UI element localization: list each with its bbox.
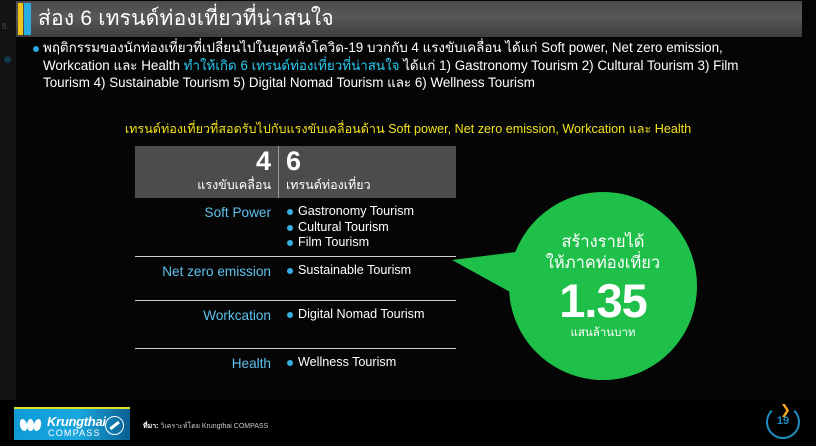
callout-line-1: สร้างรายได้ xyxy=(561,232,644,253)
page-title: ส่อง 6 เทรนด์ท่องเที่ยวที่น่าสนใจ xyxy=(38,4,334,34)
page-number: 19 xyxy=(766,415,800,427)
edge-artifact-dot xyxy=(4,56,11,63)
source-note-label: ที่มา: xyxy=(143,423,159,430)
compass-needle-icon xyxy=(105,416,124,435)
trends-label: เทรนด์ท่องเที่ยว xyxy=(286,177,456,193)
drivers-label: แรงขับเคลื่อน xyxy=(135,177,271,193)
edge-artifact-page-label: 8. xyxy=(2,22,9,31)
callout-value: 1.35 xyxy=(559,275,646,326)
footer-bar: Krungthai COMPASS ที่มา: วิเคราะห์โดย Kr… xyxy=(0,400,816,446)
edge-artifact: 8. xyxy=(0,0,16,446)
table-header-trends: 6 เทรนด์ท่องเที่ยว xyxy=(279,146,456,198)
callout-unit: แสนล้านบาท xyxy=(571,326,636,341)
table-row: Workcation Digital Nomad Tourism xyxy=(135,301,456,349)
page-number-badge: ❯ 19 xyxy=(766,405,800,439)
drivers-count: 4 xyxy=(135,146,271,177)
slide-root: 8. ส่อง 6 เทรนด์ท่องเที่ยวที่น่าสนใจ พฤต… xyxy=(0,0,816,446)
callout-circle: สร้างรายได้ ให้ภาคท่องเที่ยว 1.35 แสนล้า… xyxy=(509,192,697,380)
bullet-point-icon xyxy=(33,46,39,52)
source-note: ที่มา: วิเคราะห์โดย Krungthai COMPASS xyxy=(143,421,268,432)
logo-sub-name: COMPASS xyxy=(48,428,101,438)
driver-label: Health xyxy=(135,349,279,379)
title-accent-orange-bar xyxy=(18,3,23,35)
trends-table: 4 แรงขับเคลื่อน 6 เทรนด์ท่องเที่ยว Soft … xyxy=(135,146,456,386)
krungthai-compass-logo: Krungthai COMPASS xyxy=(14,407,130,440)
revenue-callout: สร้างรายได้ ให้ภาคท่องเที่ยว 1.35 แสนล้า… xyxy=(452,192,712,382)
section-subtitle: เทรนด์ท่องเที่ยวที่สอดรับไปกับแรงขับเคลื… xyxy=(0,119,816,139)
body-paragraph: พฤติกรรมของนักท่องเที่ยวที่เปลี่ยนไปในยุ… xyxy=(43,39,788,92)
trend-list: Digital Nomad Tourism xyxy=(279,301,456,348)
table-header-row: 4 แรงขับเคลื่อน 6 เทรนด์ท่องเที่ยว xyxy=(135,146,456,198)
trend-list: Sustainable Tourism xyxy=(279,257,456,300)
list-item: Cultural Tourism xyxy=(286,220,456,235)
table-row: Soft Power Gastronomy Tourism Cultural T… xyxy=(135,198,456,257)
table-row: Net zero emission Sustainable Tourism xyxy=(135,257,456,301)
body-paragraph-block: พฤติกรรมของนักท่องเที่ยวที่เปลี่ยนไปในยุ… xyxy=(28,39,788,92)
trends-count: 6 xyxy=(286,146,456,177)
table-header-drivers: 4 แรงขับเคลื่อน xyxy=(135,146,279,198)
driver-label: Workcation xyxy=(135,301,279,348)
source-note-text: วิเคราะห์โดย Krungthai COMPASS xyxy=(159,423,269,430)
table-row: Health Wellness Tourism xyxy=(135,349,456,379)
krungthai-bird-icon xyxy=(20,417,42,434)
list-item: Wellness Tourism xyxy=(286,355,456,370)
list-item: Gastronomy Tourism xyxy=(286,204,456,219)
list-item: Sustainable Tourism xyxy=(286,263,456,278)
driver-label: Net zero emission xyxy=(135,257,279,300)
logo-brand-name: Krungthai xyxy=(47,414,106,429)
title-accent-cyan-bar xyxy=(24,3,31,35)
driver-label: Soft Power xyxy=(135,198,279,256)
bird-wing-right xyxy=(33,418,43,431)
list-item: Digital Nomad Tourism xyxy=(286,307,456,322)
list-item: Film Tourism xyxy=(286,235,456,250)
trend-list: Gastronomy Tourism Cultural Tourism Film… xyxy=(279,198,456,256)
trend-list: Wellness Tourism xyxy=(279,349,456,379)
body-text-highlight: ทำให้เกิด 6 เทรนด์ท่องเที่ยวที่น่าสนใจ xyxy=(184,58,400,73)
callout-line-2: ให้ภาคท่องเที่ยว xyxy=(546,253,660,274)
